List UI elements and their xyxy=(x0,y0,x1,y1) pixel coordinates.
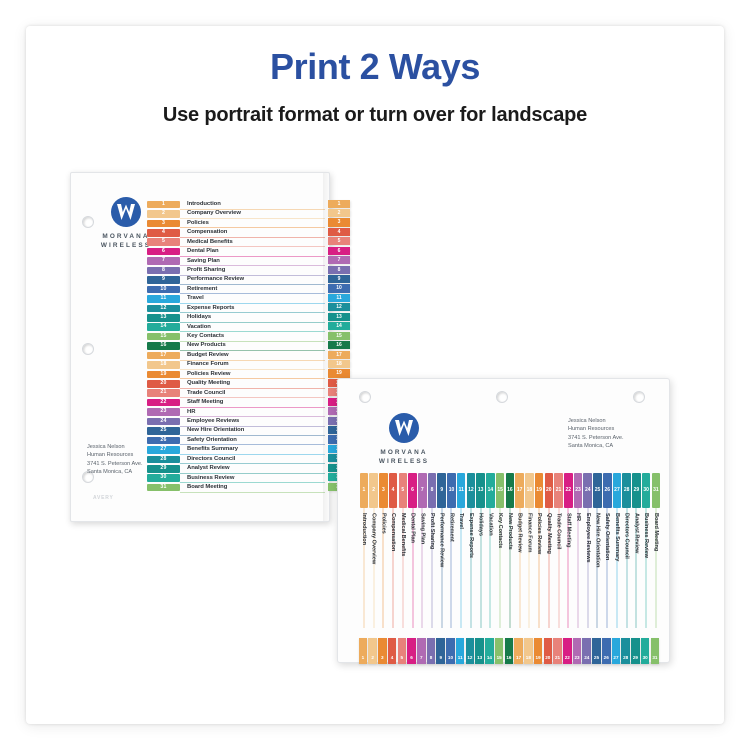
tab-label: Expense Reports xyxy=(187,305,234,311)
tab-number-chip: 2 xyxy=(369,473,378,508)
tab-number-chip: 3 xyxy=(379,473,388,508)
landscape-tab-column: 8Profit Sharing xyxy=(427,473,437,659)
tab-label: Quality Meeting xyxy=(187,380,230,386)
tab-label: Profit Sharing xyxy=(187,267,225,273)
punch-hole-icon xyxy=(633,391,645,403)
landscape-tab-column: 22Staff Meeting xyxy=(563,473,573,659)
tab-number-chip: 11 xyxy=(457,473,466,508)
tab-label: Benefits Summary xyxy=(187,446,238,452)
landscape-tab-column: 7Saving Plan xyxy=(417,473,427,659)
tab-number-chip: 6 xyxy=(328,247,350,255)
tab-number-chip: 18 xyxy=(524,638,533,664)
tab-number-chip: 3 xyxy=(147,220,180,228)
tab-number-chip: 27 xyxy=(147,446,180,454)
landscape-bottom-tab: 22 xyxy=(562,638,572,664)
tab-number-chip: 4 xyxy=(389,473,398,508)
portrait-tab-row: 20Quality Meeting xyxy=(147,379,325,388)
portrait-edge-tab: 14 xyxy=(328,322,350,331)
landscape-tab-column: 24Employee Reviews xyxy=(583,473,593,659)
portrait-tab-row: 11Travel xyxy=(147,294,325,303)
portrait-tab-row: 22Staff Meeting xyxy=(147,398,325,407)
tab-label: Vacation xyxy=(487,513,493,536)
tab-number-chip: 28 xyxy=(621,638,630,664)
landscape-bottom-tab: 17 xyxy=(514,638,524,664)
tab-number-chip: 12 xyxy=(328,303,350,311)
tab-number-chip: 15 xyxy=(496,473,505,508)
tab-label: Dental Plan xyxy=(187,248,219,254)
tab-label: Finance Forum xyxy=(187,361,229,367)
landscape-bottom-tab: 31 xyxy=(650,638,660,664)
tab-number-chip: 17 xyxy=(328,351,350,359)
landscape-tab-column: 26Safety Orientation xyxy=(602,473,612,659)
tab-label: Company Overview xyxy=(371,513,377,564)
tab-number-chip: 24 xyxy=(582,638,591,664)
address-line-1: Jessica Nelson xyxy=(568,417,658,425)
portrait-edge-tab: 4 xyxy=(328,227,350,236)
tab-number-chip: 21 xyxy=(147,389,180,397)
portrait-tab-row: 23HR xyxy=(147,408,325,417)
tab-rule xyxy=(578,508,579,628)
logo-glyph-icon xyxy=(116,203,136,221)
tab-number-chip: 20 xyxy=(147,380,180,388)
tab-label: Performance Review xyxy=(439,513,445,567)
address-line-2: Human Resources xyxy=(568,425,658,433)
punch-hole-icon xyxy=(496,391,508,403)
address-block-landscape: Jessica Nelson Human Resources 3741 S. P… xyxy=(568,417,658,451)
tab-label: Employee Reviews xyxy=(585,513,591,563)
tab-label: New Products xyxy=(507,513,513,550)
landscape-bottom-tab: 27 xyxy=(611,638,621,664)
tab-number-chip: 9 xyxy=(437,473,446,508)
portrait-edge-tab: 18 xyxy=(328,359,350,368)
tab-number-chip: 9 xyxy=(147,276,180,284)
tab-label: Compensation xyxy=(390,513,396,551)
tab-number-chip: 25 xyxy=(592,638,601,664)
landscape-tab-column: 12Expense Reports xyxy=(466,473,476,659)
tab-label: Business Review xyxy=(643,513,649,558)
tab-number-chip: 17 xyxy=(147,352,180,360)
tab-number-chip: 6 xyxy=(407,638,416,664)
screenshot-root: Print 2 Ways Use portrait format or turn… xyxy=(0,0,750,750)
tab-number-chip: 8 xyxy=(147,267,180,275)
tab-number-chip: 19 xyxy=(328,369,350,377)
tab-number-chip: 11 xyxy=(147,295,180,303)
tab-label: Directors Council xyxy=(187,456,235,462)
tab-label: Policies Review xyxy=(187,371,230,377)
tab-number-chip: 5 xyxy=(399,473,408,508)
brand-logo-landscape: MORVANA WIRELESS xyxy=(365,413,443,465)
portrait-tab-row: 10Retirement xyxy=(147,285,325,294)
portrait-edge-tab: 19 xyxy=(328,369,350,378)
tab-number-chip: 16 xyxy=(506,473,515,508)
landscape-tab-column: 30Business Review xyxy=(641,473,651,659)
tab-number-chip: 9 xyxy=(328,275,350,283)
tab-number-chip: 11 xyxy=(328,294,350,302)
portrait-tab-row: 3Policies xyxy=(147,219,325,228)
portrait-edge-tab: 6 xyxy=(328,246,350,255)
landscape-tab-column: 6Dental Plan xyxy=(408,473,418,659)
landscape-bottom-tab: 2 xyxy=(368,638,378,664)
portrait-tab-row: 24Employee Reviews xyxy=(147,417,325,426)
landscape-bottom-tab: 1 xyxy=(358,638,368,664)
landscape-bottom-tab: 14 xyxy=(485,638,495,664)
portrait-tab-row: 2Company Overview xyxy=(147,209,325,218)
tab-number-chip: 29 xyxy=(631,638,640,664)
tab-label: Staff Meeting xyxy=(187,399,223,405)
landscape-bottom-tab: 20 xyxy=(543,638,553,664)
tab-number-chip: 13 xyxy=(476,473,485,508)
portrait-edge-tab: 12 xyxy=(328,303,350,312)
tab-label: Trade Council xyxy=(187,390,225,396)
portrait-tab-row: 6Dental Plan xyxy=(147,247,325,256)
tab-number-chip: 22 xyxy=(147,399,180,407)
tab-number-chip: 15 xyxy=(328,332,350,340)
landscape-divider-sheet: MORVANA WIRELESS Jessica Nelson Human Re… xyxy=(337,378,670,663)
tab-number-chip: 29 xyxy=(632,473,641,508)
portrait-tab-row: 28Directors Council xyxy=(147,455,325,464)
tab-number-chip: 30 xyxy=(642,473,651,508)
tab-number-chip: 12 xyxy=(466,638,475,664)
tab-number-chip: 9 xyxy=(436,638,445,664)
tab-number-chip: 8 xyxy=(328,266,350,274)
tab-number-chip: 1 xyxy=(147,201,180,209)
tab-label: HR xyxy=(187,409,195,415)
landscape-bottom-tab: 9 xyxy=(436,638,446,664)
tab-label: Key Contacts xyxy=(497,513,503,548)
landscape-tab-column: 14Vacation xyxy=(486,473,496,659)
address-line-3: 3741 S. Peterson Ave. xyxy=(568,434,658,442)
tab-number-chip: 13 xyxy=(328,313,350,321)
tab-number-chip: 4 xyxy=(147,229,180,237)
landscape-tab-column: 10Retirement xyxy=(447,473,457,659)
tab-label: Board Meeting xyxy=(653,513,659,551)
tab-number-chip: 12 xyxy=(467,473,476,508)
tab-number-chip: 17 xyxy=(514,638,523,664)
tab-label: Retirement xyxy=(448,513,454,542)
tab-label: Holidays xyxy=(478,513,484,536)
tab-label: Safety Orientation xyxy=(604,513,610,560)
tab-label: Policies xyxy=(187,220,209,226)
portrait-tab-row: 21Trade Council xyxy=(147,389,325,398)
portrait-tab-row: 4Compensation xyxy=(147,228,325,237)
tab-number-chip: 15 xyxy=(495,638,504,664)
landscape-tab-column: 25New Hire Orientation xyxy=(593,473,603,659)
punch-hole-icon xyxy=(82,343,94,355)
landscape-bottom-tab: 7 xyxy=(416,638,426,664)
tab-number-chip: 7 xyxy=(418,473,427,508)
tab-label: Employee Reviews xyxy=(187,418,239,424)
landscape-bottom-tab: 6 xyxy=(407,638,417,664)
tab-number-chip: 25 xyxy=(593,473,602,508)
tab-label: Budget Review xyxy=(517,513,523,552)
tab-number-chip: 1 xyxy=(328,200,350,208)
tab-number-chip: 28 xyxy=(622,473,631,508)
portrait-tab-row: 7Saving Plan xyxy=(147,257,325,266)
portrait-tab-row: 9Performance Review xyxy=(147,276,325,285)
tab-label: Board Meeting xyxy=(187,484,227,490)
portrait-edge-tab: 3 xyxy=(328,218,350,227)
portrait-tab-row: 30Business Review xyxy=(147,474,325,483)
tab-number-chip: 27 xyxy=(613,473,622,508)
tab-number-chip: 28 xyxy=(147,456,180,464)
tab-number-chip: 31 xyxy=(651,638,660,664)
portrait-edge-tab: 7 xyxy=(328,256,350,265)
portrait-divider-sheet: MORVANA WIRELESS Jessica Nelson Human Re… xyxy=(70,172,330,522)
portrait-tab-row: 5Medical Benefits xyxy=(147,238,325,247)
landscape-tab-column: 3Policies xyxy=(378,473,388,659)
tab-number-chip: 29 xyxy=(147,465,180,473)
tab-label: Saving Plan xyxy=(419,513,425,544)
landscape-bottom-tab: 25 xyxy=(592,638,602,664)
tab-number-chip: 24 xyxy=(147,418,180,426)
portrait-tab-row: 14Vacation xyxy=(147,323,325,332)
tab-number-chip: 12 xyxy=(147,305,180,313)
page-title: Print 2 Ways xyxy=(0,46,750,88)
tab-number-chip: 22 xyxy=(564,473,573,508)
tab-number-chip: 26 xyxy=(602,638,611,664)
tab-number-chip: 19 xyxy=(534,638,543,664)
portrait-edge-tab: 16 xyxy=(328,341,350,350)
tab-label: Analyst Review xyxy=(187,465,230,471)
tab-label: Compensation xyxy=(187,229,227,235)
morvana-logo-icon xyxy=(389,413,419,443)
tab-number-chip: 16 xyxy=(328,341,350,349)
tab-number-chip: 31 xyxy=(147,484,180,492)
tab-number-chip: 30 xyxy=(147,474,180,482)
tab-number-chip: 13 xyxy=(147,314,180,322)
tab-label: Vacation xyxy=(187,324,211,330)
tab-number-chip: 10 xyxy=(446,638,455,664)
brand-name-line2: WIRELESS xyxy=(365,458,443,465)
landscape-bottom-tab: 8 xyxy=(426,638,436,664)
tab-number-chip: 24 xyxy=(583,473,592,508)
tab-number-chip: 27 xyxy=(612,638,621,664)
landscape-bottom-tab: 12 xyxy=(465,638,475,664)
tab-label: Travel xyxy=(458,513,464,529)
tab-number-chip: 14 xyxy=(485,638,494,664)
tab-number-chip: 7 xyxy=(147,257,180,265)
tab-number-chip: 31 xyxy=(652,473,661,508)
landscape-tab-column: 15Key Contacts xyxy=(495,473,505,659)
manufacturer-mark: AVERY xyxy=(93,495,114,501)
tab-number-chip: 4 xyxy=(388,638,397,664)
tab-number-chip: 20 xyxy=(545,473,554,508)
tab-number-chip: 8 xyxy=(427,638,436,664)
portrait-tab-row: 31Board Meeting xyxy=(147,483,325,492)
tab-number-chip: 16 xyxy=(147,342,180,350)
tab-label: Staff Meeting xyxy=(565,513,571,547)
tab-number-chip: 15 xyxy=(147,333,180,341)
landscape-tab-column: 4Compensation xyxy=(388,473,398,659)
landscape-tab-column: 17Budget Review xyxy=(515,473,525,659)
tab-number-chip: 10 xyxy=(447,473,456,508)
tab-number-chip: 14 xyxy=(486,473,495,508)
tab-number-chip: 26 xyxy=(603,473,612,508)
tab-number-chip: 2 xyxy=(147,210,180,218)
tab-number-chip: 30 xyxy=(641,638,650,664)
portrait-tab-list: 1Introduction2Company Overview3Policies4… xyxy=(147,200,325,493)
landscape-bottom-tab: 21 xyxy=(553,638,563,664)
tab-number-chip: 26 xyxy=(147,437,180,445)
tab-number-chip: 8 xyxy=(428,473,437,508)
morvana-logo-icon xyxy=(111,197,141,227)
tab-number-chip: 11 xyxy=(456,638,465,664)
tab-number-chip: 14 xyxy=(328,322,350,330)
tab-number-chip: 4 xyxy=(328,228,350,236)
tab-number-chip: 18 xyxy=(147,361,180,369)
portrait-tab-row: 29Analyst Review xyxy=(147,464,325,473)
tab-label: New Products xyxy=(187,342,226,348)
tab-label: Performance Review xyxy=(187,276,244,282)
tab-label: Business Review xyxy=(187,475,234,481)
tab-label: Safety Orientation xyxy=(187,437,237,443)
tab-label: Directors Council xyxy=(624,513,630,559)
tab-number-chip: 17 xyxy=(515,473,524,508)
tab-label: Holidays xyxy=(187,314,211,320)
tab-number-chip: 18 xyxy=(525,473,534,508)
landscape-bottom-tab: 28 xyxy=(621,638,631,664)
address-line-4: Santa Monica, CA xyxy=(568,442,658,450)
landscape-tab-column: 13Holidays xyxy=(476,473,486,659)
tab-label: Company Overview xyxy=(187,210,241,216)
tab-label: Saving Plan xyxy=(187,258,220,264)
portrait-edge-tab: 10 xyxy=(328,284,350,293)
landscape-bottom-tab: 10 xyxy=(446,638,456,664)
landscape-bottom-tab: 24 xyxy=(582,638,592,664)
tab-number-chip: 22 xyxy=(563,638,572,664)
tab-label: Retirement xyxy=(187,286,217,292)
landscape-tab-column: 20Quality Meeting xyxy=(544,473,554,659)
landscape-tab-column: 28Directors Council xyxy=(622,473,632,659)
portrait-tab-row: 8Profit Sharing xyxy=(147,266,325,275)
tab-number-chip: 10 xyxy=(328,284,350,292)
landscape-tab-column: 11Travel xyxy=(456,473,466,659)
landscape-tab-column: 21Trade Council xyxy=(554,473,564,659)
landscape-tab-column: 19Policies Review xyxy=(534,473,544,659)
tab-label: Budget Review xyxy=(187,352,229,358)
logo-glyph-icon xyxy=(394,419,414,437)
tab-label: Medical Benefits xyxy=(187,239,233,245)
portrait-tab-row: 27Benefits Summary xyxy=(147,445,325,454)
tab-number-chip: 21 xyxy=(553,638,562,664)
tab-number-chip: 18 xyxy=(328,360,350,368)
tab-number-chip: 19 xyxy=(147,371,180,379)
tab-label: Analyst Review xyxy=(633,513,639,553)
landscape-bottom-tab: 3 xyxy=(377,638,387,664)
landscape-bottom-tab: 16 xyxy=(504,638,514,664)
tab-number-chip: 19 xyxy=(535,473,544,508)
landscape-tab-column: 16New Products xyxy=(505,473,515,659)
tab-label: Quality Meeting xyxy=(546,513,552,554)
landscape-bottom-tab: 18 xyxy=(523,638,533,664)
landscape-tab-column: 27Benefits Summary xyxy=(612,473,622,659)
tab-number-chip: 5 xyxy=(398,638,407,664)
portrait-tab-row: 16New Products xyxy=(147,342,325,351)
portrait-tab-row: 25New Hire Orientation xyxy=(147,427,325,436)
tab-label: Expense Reports xyxy=(468,513,474,558)
tab-number-chip: 16 xyxy=(505,638,514,664)
tab-number-chip: 14 xyxy=(147,323,180,331)
tab-number-chip: 5 xyxy=(328,237,350,245)
tab-number-chip: 3 xyxy=(378,638,387,664)
tab-number-chip: 25 xyxy=(147,427,180,435)
portrait-tab-row: 18Finance Forum xyxy=(147,360,325,369)
tab-number-chip: 6 xyxy=(147,248,180,256)
landscape-tab-column: 18Finance Forum xyxy=(524,473,534,659)
tab-label: New Hire Orientation xyxy=(594,513,600,567)
tab-number-chip: 23 xyxy=(147,408,180,416)
portrait-tab-row: 12Expense Reports xyxy=(147,304,325,313)
landscape-tab-column: 5Medical Benefits xyxy=(398,473,408,659)
tab-label: Dental Plan xyxy=(410,513,416,543)
landscape-tab-bottom-stack: 1234567891011121314151617181920212223242… xyxy=(358,638,660,664)
landscape-tab-column: 31Board Meeting xyxy=(651,473,661,659)
landscape-bottom-tab: 5 xyxy=(397,638,407,664)
tab-number-chip: 2 xyxy=(368,638,377,664)
tab-number-chip: 3 xyxy=(328,218,350,226)
landscape-bottom-tab: 29 xyxy=(631,638,641,664)
tab-number-chip: 13 xyxy=(475,638,484,664)
tab-number-chip: 2 xyxy=(328,209,350,217)
landscape-bottom-tab: 4 xyxy=(387,638,397,664)
landscape-tab-column: 9Performance Review xyxy=(437,473,447,659)
brand-name-line1: MORVANA xyxy=(365,449,443,456)
tab-label: Policies xyxy=(380,513,386,534)
tab-number-chip: 7 xyxy=(417,638,426,664)
landscape-bottom-tab: 19 xyxy=(533,638,543,664)
landscape-bottom-tab: 26 xyxy=(601,638,611,664)
portrait-edge-tab: 13 xyxy=(328,312,350,321)
landscape-tab-column: 23HR xyxy=(573,473,583,659)
page-subtitle: Use portrait format or turn over for lan… xyxy=(0,104,750,127)
tab-label: Profit Sharing xyxy=(429,513,435,549)
tab-rule xyxy=(180,492,325,493)
tab-label: Policies Review xyxy=(536,513,542,554)
tab-label: Benefits Summary xyxy=(614,513,620,561)
tab-number-chip: 5 xyxy=(147,238,180,246)
portrait-tab-row: 1Introduction xyxy=(147,200,325,209)
tab-label: Trade Council xyxy=(556,513,562,549)
portrait-edge-tab: 17 xyxy=(328,350,350,359)
portrait-edge-tab: 5 xyxy=(328,237,350,246)
tab-number-chip: 10 xyxy=(147,286,180,294)
portrait-tab-row: 17Budget Review xyxy=(147,351,325,360)
portrait-tab-row: 26Safety Orientation xyxy=(147,436,325,445)
portrait-tab-row: 19Policies Review xyxy=(147,370,325,379)
tab-label: Key Contacts xyxy=(187,333,224,339)
landscape-tab-columns: 1Introduction2Company Overview3Policies4… xyxy=(359,473,661,659)
portrait-edge-tab: 11 xyxy=(328,293,350,302)
tab-number-chip: 1 xyxy=(360,473,369,508)
tab-label: Introduction xyxy=(187,201,221,207)
portrait-edge-tab: 1 xyxy=(328,199,350,208)
tab-label: Travel xyxy=(187,295,204,301)
tab-label: HR xyxy=(575,513,581,521)
tab-number-chip: 23 xyxy=(573,638,582,664)
tab-number-chip: 6 xyxy=(408,473,417,508)
landscape-tab-column: 29Analyst Review xyxy=(632,473,642,659)
tab-number-chip: 1 xyxy=(359,638,368,664)
tab-number-chip: 21 xyxy=(554,473,563,508)
landscape-tab-column: 1Introduction xyxy=(359,473,369,659)
landscape-bottom-tab: 11 xyxy=(455,638,465,664)
portrait-edge-tab: 15 xyxy=(328,331,350,340)
landscape-bottom-tab: 23 xyxy=(572,638,582,664)
landscape-bottom-tab: 15 xyxy=(494,638,504,664)
landscape-bottom-tab: 30 xyxy=(640,638,650,664)
tab-label: New Hire Orientation xyxy=(187,427,244,433)
landscape-tab-column: 2Company Overview xyxy=(369,473,379,659)
